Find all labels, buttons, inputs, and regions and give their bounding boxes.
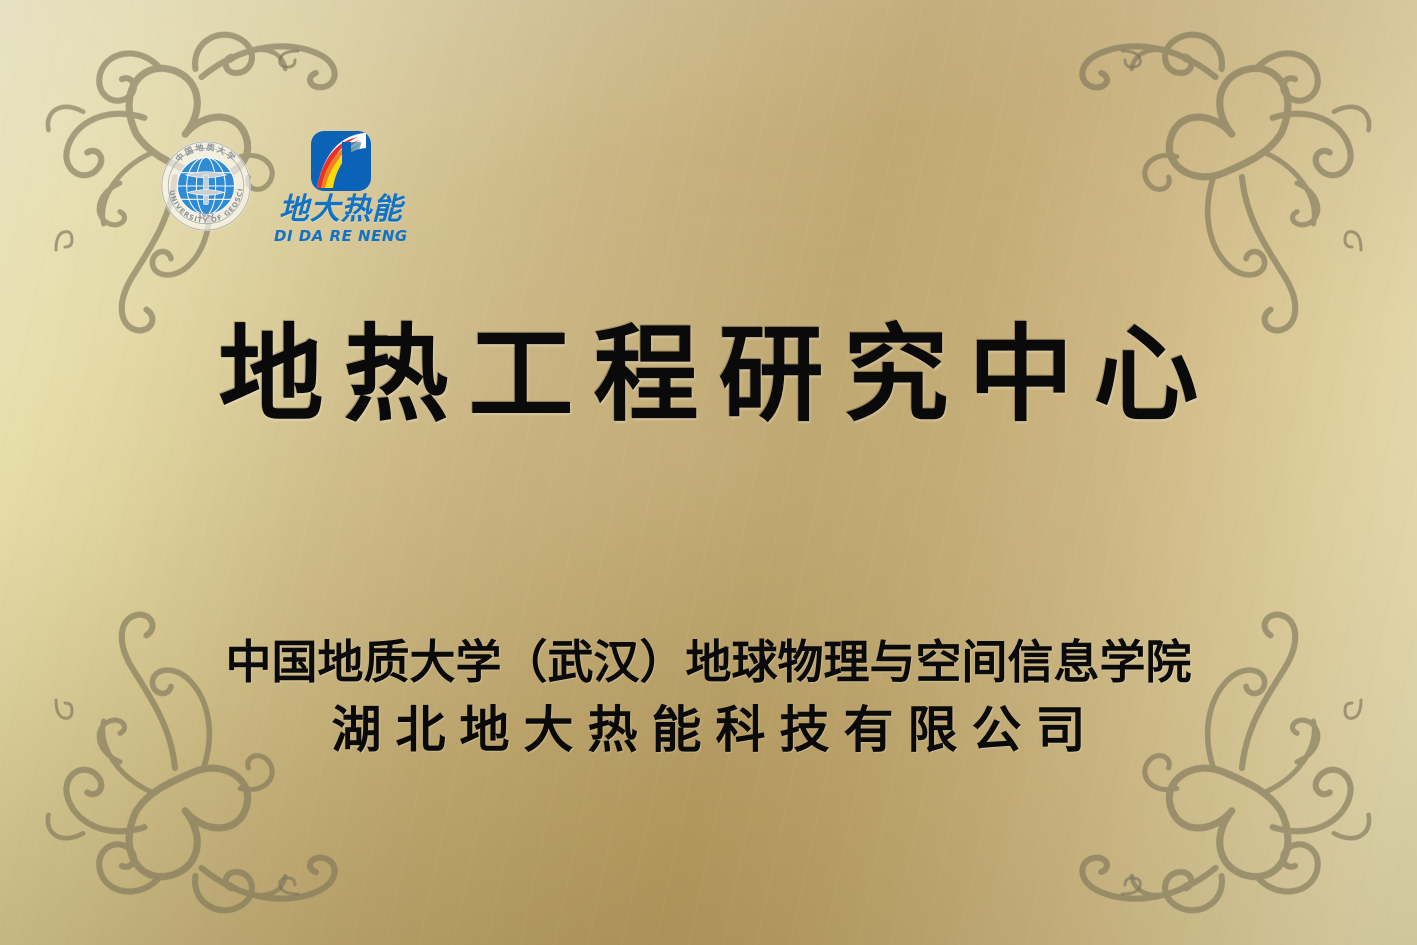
didareneng-company-logo: 地大热能 DI DA RE NENG xyxy=(274,128,408,244)
subtitle-institute: 中国地质大学（武汉）地球物理与空间信息学院 xyxy=(0,636,1417,689)
didareneng-rainbow-mark-icon xyxy=(308,128,374,194)
cug-founded-year: 1952 xyxy=(198,213,214,219)
geothermal-research-center-plaque: CHINA UNIVERSITY OF GEOSCIENCES 中国地质大学 xyxy=(0,0,1417,945)
company-name-pinyin: DI DA RE NENG xyxy=(274,229,408,244)
logo-row: CHINA UNIVERSITY OF GEOSCIENCES 中国地质大学 xyxy=(160,128,408,244)
subtitle-company: 湖北地大热能科技有限公司 xyxy=(0,702,1417,760)
page-title: 地热工程研究中心 xyxy=(0,318,1417,434)
cug-globe-emblem-icon: CHINA UNIVERSITY OF GEOSCIENCES 中国地质大学 xyxy=(160,140,252,232)
company-name-cn: 地大热能 xyxy=(279,195,403,225)
cug-university-logo: CHINA UNIVERSITY OF GEOSCIENCES 中国地质大学 xyxy=(160,140,252,232)
